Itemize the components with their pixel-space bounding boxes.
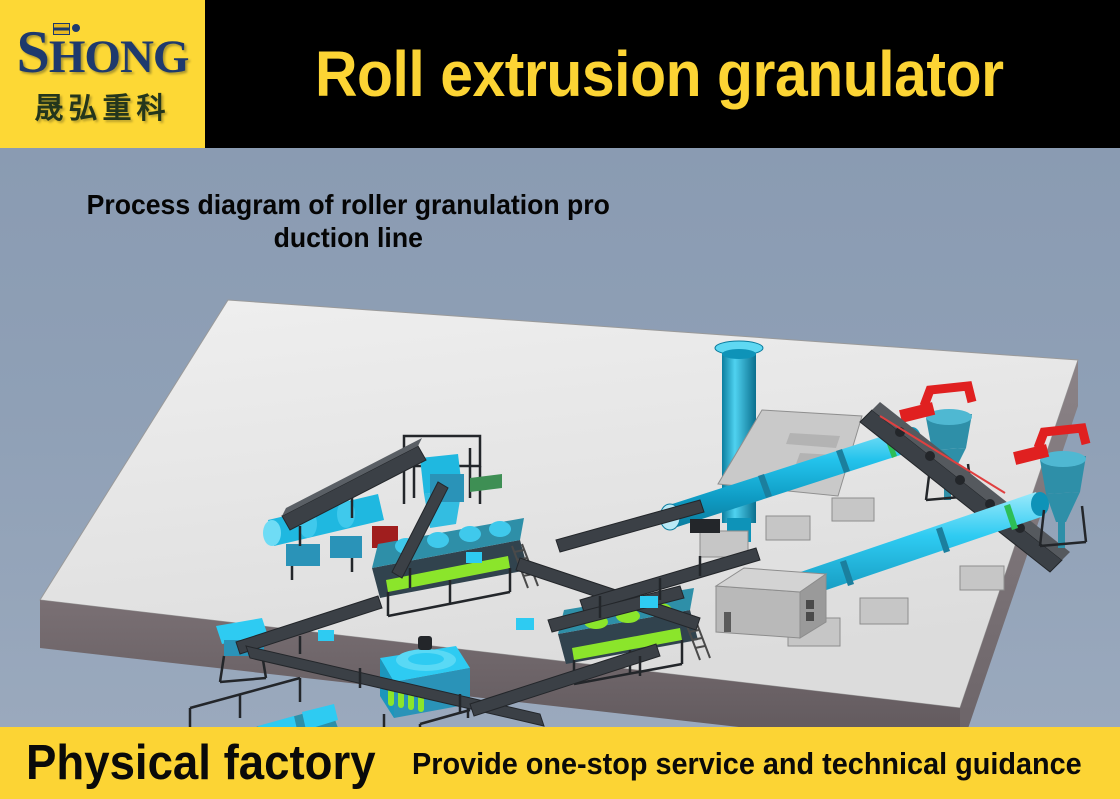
process-diagram-scene: Process diagram of roller granulation pr… xyxy=(0,148,1120,727)
footer-subline: Provide one-stop service and technical g… xyxy=(412,748,1082,779)
logo-mark: SHONG xyxy=(17,21,189,83)
batching-hopper-line xyxy=(120,704,340,727)
logo-wordmark: SHONG xyxy=(17,21,189,88)
caption-line-1: Process diagram of roller granulation pr… xyxy=(30,188,667,221)
product-banner-page: SHONG 晟弘重科 Roll extrusion granulator xyxy=(0,0,1120,799)
footer-headline: Physical factory xyxy=(26,739,376,788)
logo-initial: S xyxy=(17,19,49,85)
control-room-building xyxy=(716,568,826,638)
factory-floor-slab xyxy=(40,300,1078,727)
diagram-caption: Process diagram of roller granulation pr… xyxy=(30,188,667,254)
header-title-container: Roll extrusion granulator xyxy=(205,0,1120,148)
caption-line-2: duction line xyxy=(30,221,667,254)
logo-rest: HONG xyxy=(49,31,189,83)
dot-icon xyxy=(72,24,80,32)
logo-chinese-name: 晟弘重科 xyxy=(34,85,170,127)
page-title: Roll extrusion granulator xyxy=(315,42,1004,106)
company-logo[interactable]: SHONG 晟弘重科 xyxy=(0,0,205,148)
footer-bar: Physical factory Provide one-stop servic… xyxy=(0,727,1120,799)
header-bar: SHONG 晟弘重科 Roll extrusion granulator xyxy=(0,0,1120,148)
flag-icon xyxy=(53,23,70,35)
